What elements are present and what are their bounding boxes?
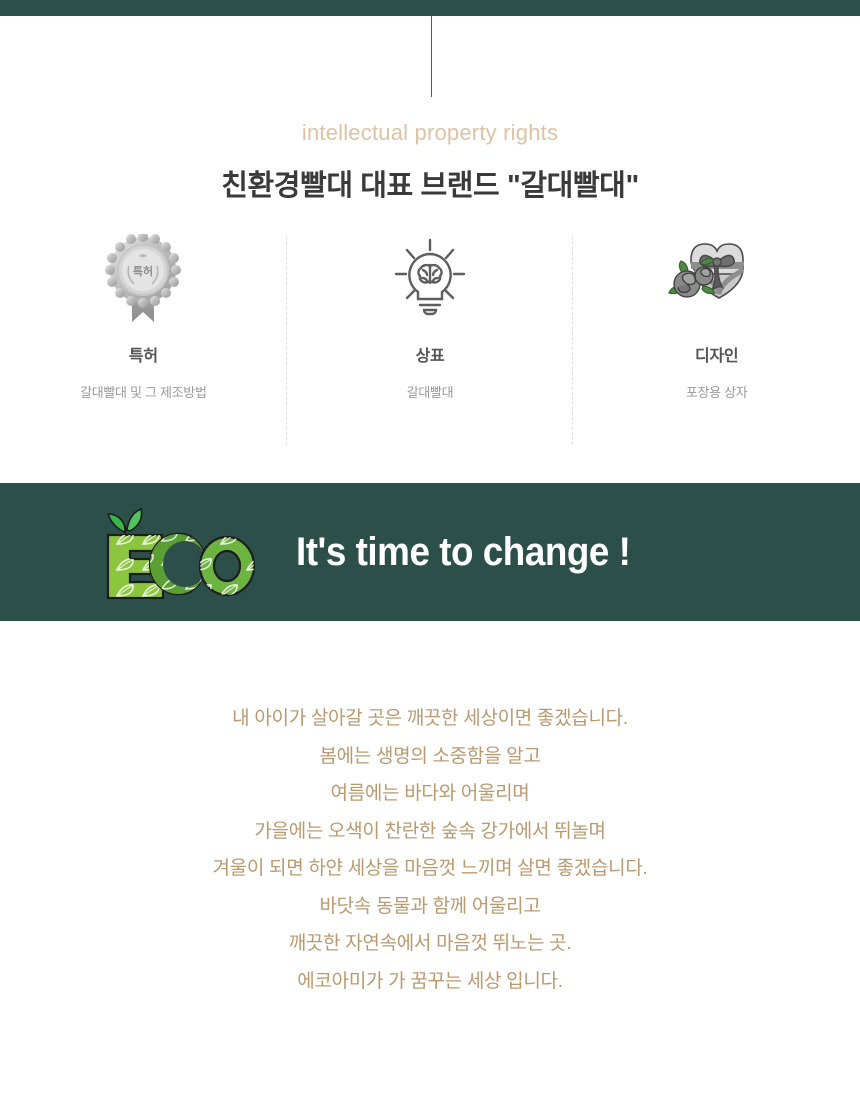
eco-banner: It's time to change ! (0, 483, 860, 621)
top-accent-bar (0, 0, 860, 16)
closing-message: 내 아이가 살아갈 곳은 깨끗한 세상이면 좋겠습니다. 봄에는 생명의 소중함… (0, 700, 860, 1000)
heart-gift-box-icon (665, 234, 769, 326)
ip-card-desc: 갈대빨대 (407, 382, 454, 401)
poem-line: 내 아이가 살아갈 곳은 깨끗한 세상이면 좋겠습니다. (0, 700, 860, 738)
poem-line: 에코아미가 가 꿈꾸는 세상 입니다. (0, 963, 860, 1001)
poem-line: 깨끗한 자연속에서 마음껏 뛰노는 곳. (0, 925, 860, 963)
ip-card-title: 상표 (416, 342, 445, 366)
ip-card-title: 디자인 (695, 342, 738, 366)
lightbulb-brain-icon (387, 234, 473, 326)
poem-line: 봄에는 생명의 소중함을 알고 (0, 738, 860, 776)
vertical-divider-line (431, 16, 432, 97)
poem-line: 여름에는 바다와 어울리며 (0, 775, 860, 813)
patent-medal-icon: 특허 (103, 234, 183, 326)
ip-card-trademark: 상표 갈대빨대 (287, 232, 574, 447)
poem-line: 가을에는 오색이 찬란한 숲속 강가에서 뛰놀며 (0, 813, 860, 851)
eco-logo-icon (86, 502, 258, 602)
poem-line: 바닷속 동물과 함께 어울리고 (0, 888, 860, 926)
ip-card-desc: 포장용 상자 (686, 382, 748, 401)
ip-rights-row: 특허 특허 갈대빨대 및 그 제조방법 (0, 232, 860, 447)
ip-card-title: 특허 (129, 342, 158, 366)
page-title: 친환경빨대 대표 브랜드 "갈대빨대" (0, 162, 860, 204)
ip-card-patent: 특허 특허 갈대빨대 및 그 제조방법 (0, 232, 287, 447)
ip-card-desc: 갈대빨대 및 그 제조방법 (80, 382, 207, 401)
svg-text:특허: 특허 (133, 264, 153, 278)
banner-slogan: It's time to change ! (296, 483, 630, 621)
poem-line: 겨울이 되면 하얀 세상을 마음껏 느끼며 살면 좋겠습니다. (0, 850, 860, 888)
section-eyebrow: intellectual property rights (0, 120, 860, 146)
ip-card-design: 디자인 포장용 상자 (573, 232, 860, 447)
promo-page: intellectual property rights 친환경빨대 대표 브랜… (0, 0, 860, 1100)
